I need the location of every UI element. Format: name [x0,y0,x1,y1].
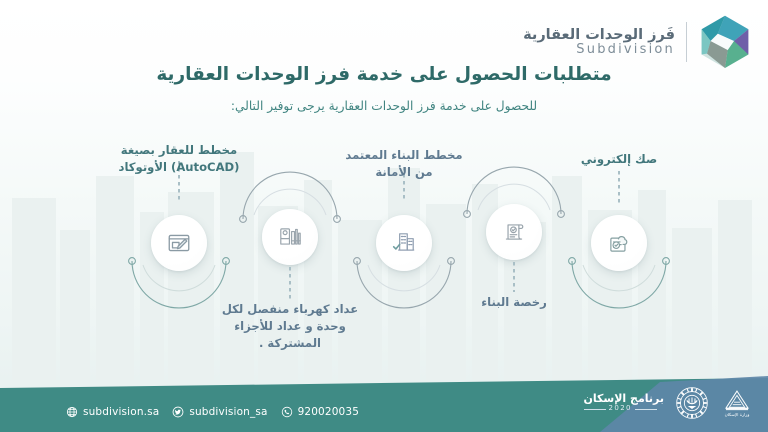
footer-twitter[interactable]: subdivision_sa [172,406,267,418]
step-label-autocad-plan: مخطط للعقار بصيغة (AutoCAD) الأوتوكاد [84,142,274,176]
blueprint-pencil-icon [166,230,192,256]
brand-text: فَرز الوحدات العقارية Subdivision [523,27,675,58]
footer-website[interactable]: subdivision.sa [66,406,159,418]
saudi-emblem-seal-icon [675,386,709,420]
electricity-meter-icon [277,224,303,250]
housing-program-year-row: 2020 [584,405,665,413]
step-icon-disc[interactable] [376,215,432,271]
step-icon-disc[interactable] [262,209,318,265]
license-scroll-icon [501,219,527,245]
brand-name-arabic: فَرز الوحدات العقارية [523,27,675,43]
step-label-electricity-meter: عداد كهرباء منفصل لكل وحدة و عداد للأجزا… [195,301,385,351]
svg-text:وزارة الإسكان: وزارة الإسكان [725,412,750,418]
footer-social-links: subdivision.sa subdivision_sa 920020035 [66,406,359,418]
housing-program-year: 2020 [609,405,632,413]
infographic-canvas: فَرز الوحدات العقارية Subdivision متطلبا… [0,0,768,432]
phone-icon [281,406,293,418]
brand-name-english: Subdivision [523,43,675,58]
footer-phone-text: 920020035 [298,406,359,418]
step-icon-disc[interactable] [151,215,207,271]
step-label-electronic-deed: صك إلكتروني [524,151,714,168]
footer-website-text: subdivision.sa [83,406,159,418]
page-title: متطلبات الحصول على خدمة فرز الوحدات العق… [0,64,768,85]
ministry-of-housing-logo-icon: وزارة الإسكان [720,386,754,420]
footer-logos: برنامج الإسكان 2020 [584,386,755,420]
footer-twitter-text: subdivision_sa [189,406,267,418]
deed-cloud-icon [606,230,632,256]
page-subtitle: للحصول على خدمة فرز الوحدات العقارية يرج… [0,99,768,113]
step-connector-line [618,171,620,203]
step-connector-line [513,262,515,292]
brand-divider [686,22,687,62]
step-icon-disc[interactable] [486,204,542,260]
globe-icon [66,406,78,418]
step-connector-line [289,267,291,299]
brand-lockup: فَرز الوحدات العقارية Subdivision [523,14,752,70]
footer-phone[interactable]: 920020035 [281,406,359,418]
housing-program-logo: برنامج الإسكان 2020 [584,393,665,413]
approved-building-icon [391,230,417,256]
step-icon-disc[interactable] [591,215,647,271]
twitter-bird-icon [172,406,184,418]
hexagon-facet-logo-icon [698,14,752,70]
